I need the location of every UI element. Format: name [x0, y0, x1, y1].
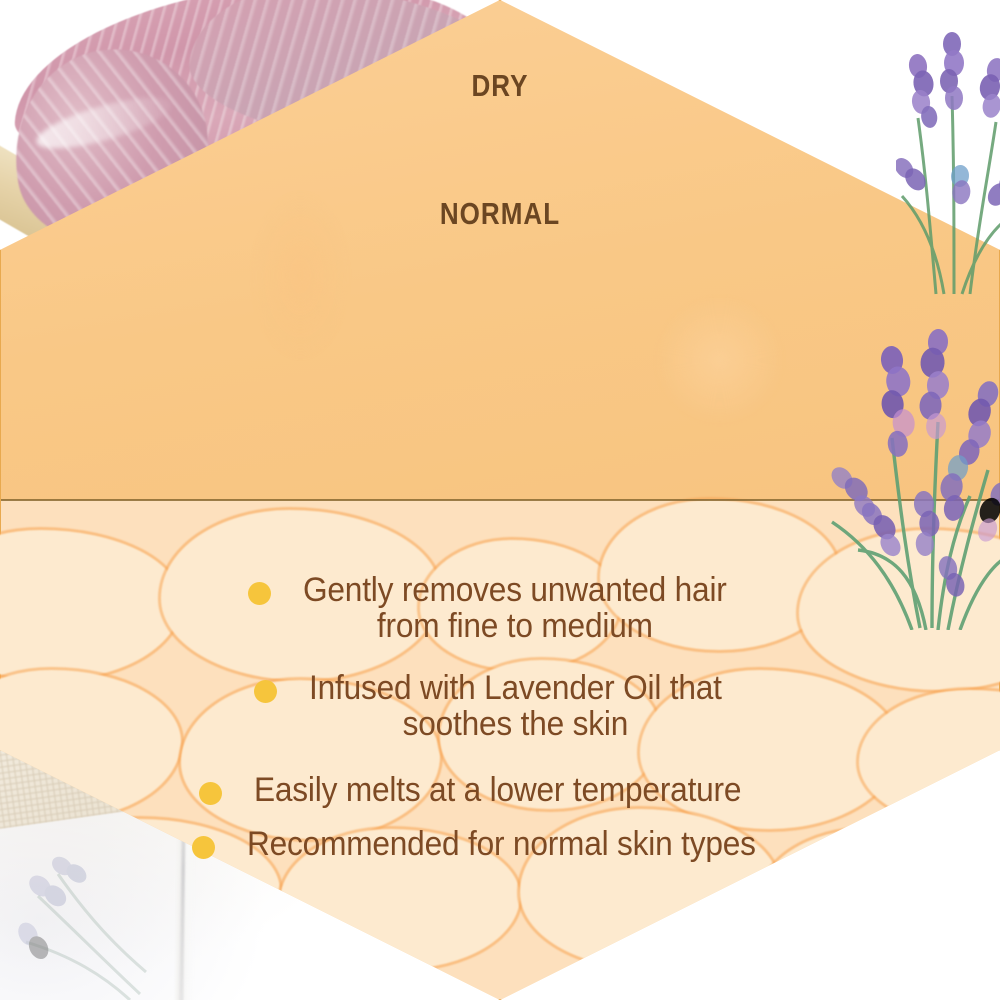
bullet-dot-icon	[254, 680, 277, 703]
bullet-dot-icon	[199, 782, 222, 805]
feature-bullet-list: Gently removes unwanted hair from fine t…	[0, 572, 1000, 880]
dry-skin-label: DRY	[80, 68, 920, 104]
list-item: Gently removes unwanted hair from fine t…	[0, 572, 1000, 644]
bullet-dot-icon	[248, 582, 271, 605]
product-feature-panel: DRY NORMAL	[0, 0, 1000, 1000]
bullet-text-2: Infused with Lavender Oil that soothes t…	[309, 670, 722, 742]
bullet-text-1: Gently removes unwanted hair from fine t…	[303, 572, 727, 644]
list-item: Easily melts at a lower temperature	[0, 772, 1000, 808]
list-item: Recommended for normal skin types	[0, 826, 1000, 862]
skin-type-divider	[1, 499, 999, 501]
bullet-text-3: Easily melts at a lower temperature	[254, 772, 741, 808]
normal-skin-label: NORMAL	[80, 196, 920, 232]
bullet-text-4: Recommended for normal skin types	[247, 826, 756, 862]
list-item: Infused with Lavender Oil that soothes t…	[0, 670, 1000, 742]
bullet-dot-icon	[192, 836, 215, 859]
